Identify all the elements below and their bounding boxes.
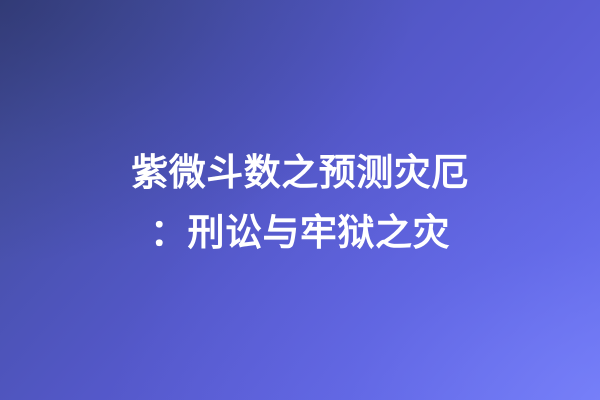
title-slide: 紫微斗数之预测灾厄 ：刑讼与牢狱之灾 xyxy=(0,0,600,400)
slide-title: 紫微斗数之预测灾厄 ：刑讼与牢狱之灾 xyxy=(0,143,600,263)
title-line-1: 紫微斗数之预测灾厄 xyxy=(0,143,600,203)
title-line-2: ：刑讼与牢狱之灾 xyxy=(0,203,600,263)
